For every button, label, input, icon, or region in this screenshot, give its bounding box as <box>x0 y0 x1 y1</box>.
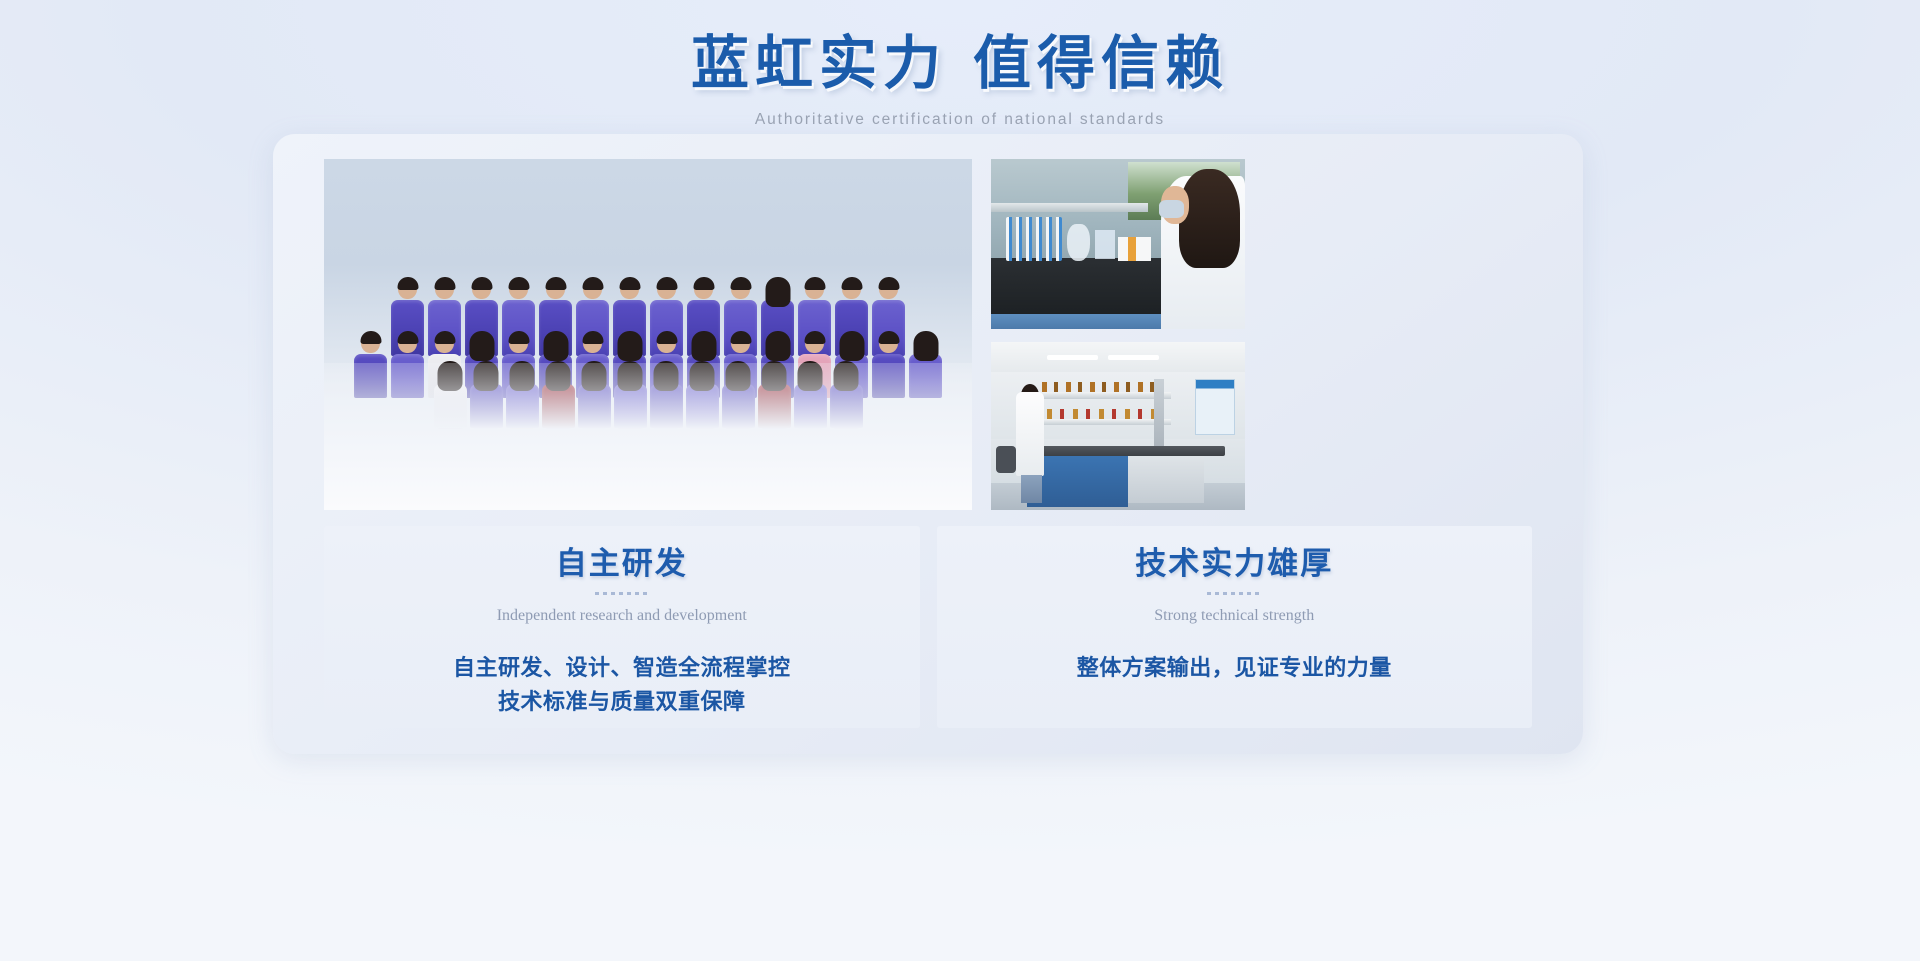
team-photo <box>324 159 972 510</box>
feature-card-title: 自主研发 <box>324 544 920 584</box>
feature-card-description-line: 整体方案输出，见证专业的力量 <box>937 651 1533 685</box>
page-header: 蓝虹实力值得信赖 Authoritative certification of … <box>0 28 1920 130</box>
page-root: 蓝虹实力值得信赖 Authoritative certification of … <box>0 0 1920 961</box>
feature-card-description: 整体方案输出，见证专业的力量 <box>937 651 1533 685</box>
dotted-divider <box>1207 592 1261 595</box>
page-title-part2: 值得信赖 <box>973 31 1229 96</box>
feature-cards: 自主研发 Independent research and developmen… <box>324 526 1532 728</box>
feature-card-description-line: 技术标准与质量双重保障 <box>324 685 920 719</box>
page-title-part1: 蓝虹实力 <box>691 31 947 96</box>
content-panel: 自主研发 Independent research and developmen… <box>273 134 1583 754</box>
page-subtitle: Authoritative certification of national … <box>0 110 1920 130</box>
feature-card-tech: 技术实力雄厚 Strong technical strength 整体方案输出，… <box>937 526 1533 728</box>
feature-card-description-line: 自主研发、设计、智造全流程掌控 <box>324 651 920 685</box>
media-gallery <box>324 159 1532 510</box>
lab-photo-top-scene <box>991 159 1245 329</box>
feature-card-title: 技术实力雄厚 <box>937 544 1533 584</box>
lab-photo-top <box>991 159 1245 329</box>
feature-card-english: Strong technical strength <box>937 605 1533 627</box>
lab-photo-bottom-scene <box>991 342 1245 510</box>
lab-photo-bottom <box>991 342 1245 510</box>
page-title: 蓝虹实力值得信赖 <box>0 28 1920 100</box>
team-photo-floor <box>324 363 972 510</box>
feature-card-description: 自主研发、设计、智造全流程掌控 技术标准与质量双重保障 <box>324 651 920 719</box>
feature-card-english: Independent research and development <box>324 605 920 627</box>
feature-card-rd: 自主研发 Independent research and developmen… <box>324 526 920 728</box>
dotted-divider <box>595 592 649 595</box>
